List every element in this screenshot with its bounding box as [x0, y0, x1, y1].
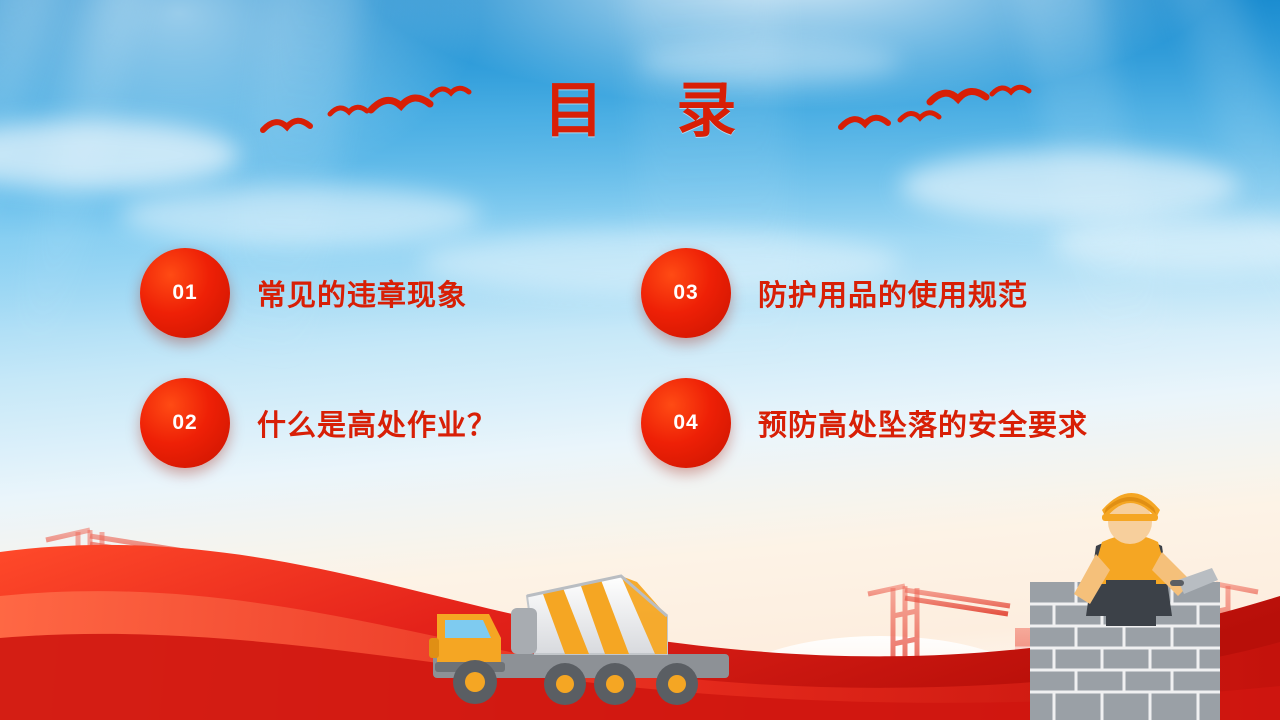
toc-item-label: 防护用品的使用规范	[758, 272, 1028, 314]
cloud	[120, 185, 480, 245]
toc-number-badge: 03	[641, 248, 731, 338]
toc-number-badge: 04	[641, 378, 731, 468]
construction-worker-icon	[1010, 430, 1250, 720]
toc-item-02[interactable]: 02 什么是高处作业？	[140, 378, 497, 468]
scaffolding	[150, 590, 386, 700]
toc-number-badge: 02	[140, 378, 230, 468]
cement-mixer-truck-icon	[415, 542, 745, 712]
presentation-slide: 目 录 01 常见的违章现象 02 什么是高处作业？ 03 防护用品的使用规范 …	[0, 0, 1280, 720]
toc-item-01[interactable]: 01 常见的违章现象	[140, 248, 467, 338]
toc-item-label: 常见的违章现象	[257, 272, 467, 314]
toc-number-badge: 01	[140, 248, 230, 338]
toc-item-label: 什么是高处作业？	[257, 402, 497, 444]
page-title: 目 录	[0, 78, 1280, 144]
mixer-drum	[511, 576, 667, 654]
toc-item-03[interactable]: 03 防护用品的使用规范	[641, 248, 1028, 338]
cloud	[900, 150, 1240, 222]
tower-crane-icon	[0, 530, 228, 690]
